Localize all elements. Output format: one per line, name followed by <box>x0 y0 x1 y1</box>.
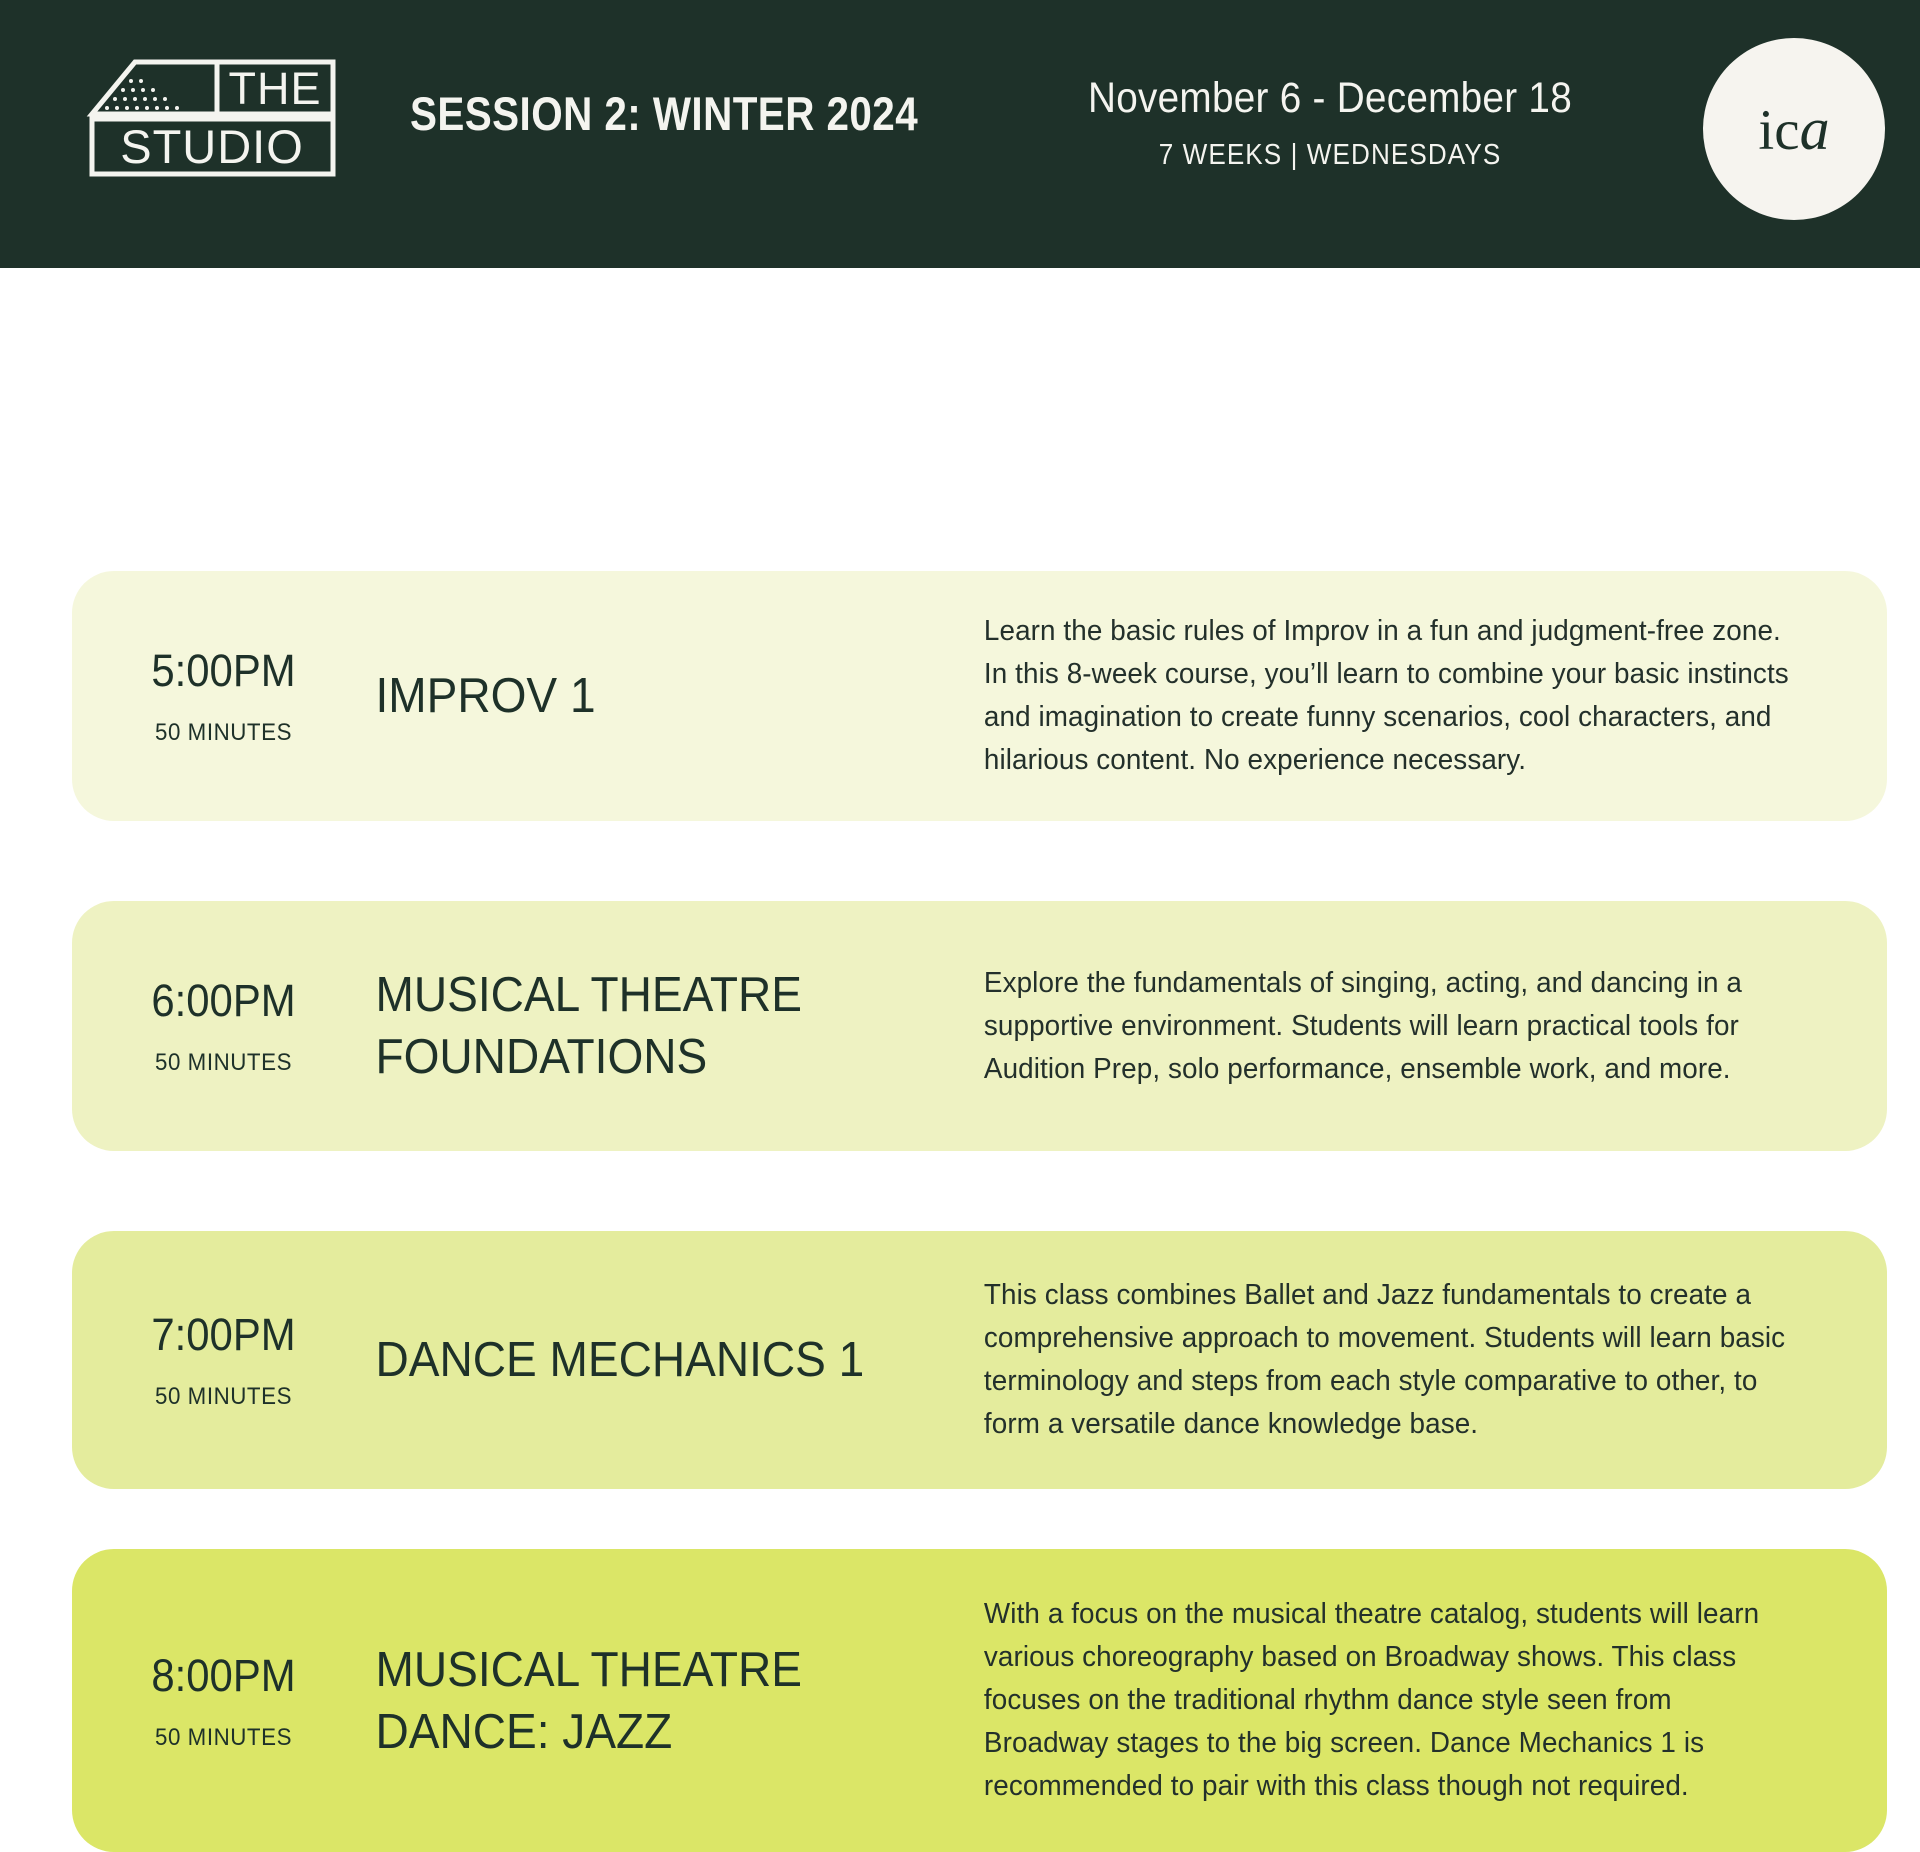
class-start-time: 5:00PM <box>90 645 357 697</box>
class-description: This class combines Ballet and Jazz fund… <box>982 1274 1851 1446</box>
class-duration: 50 MINUTES <box>90 1724 357 1752</box>
class-card[interactable]: 6:00PM 50 MINUTES MUSICAL THEATRE FOUNDA… <box>72 901 1887 1151</box>
class-time-block: 6:00PM 50 MINUTES <box>72 975 367 1077</box>
date-detail: 7 WEEKS | WEDNESDAYS <box>1060 138 1600 172</box>
class-card[interactable]: 8:00PM 50 MINUTES MUSICAL THEATRE DANCE:… <box>72 1549 1887 1852</box>
ica-roman-part: ic <box>1758 99 1799 162</box>
class-description: With a focus on the musical theatre cata… <box>982 1593 1851 1808</box>
ica-logo-badge: ica <box>1703 38 1885 220</box>
date-range: November 6 - December 18 <box>1060 72 1600 124</box>
class-description: Explore the fundamentals of singing, act… <box>982 962 1851 1091</box>
class-description: Learn the basic rules of Improv in a fun… <box>982 610 1851 782</box>
class-duration: 50 MINUTES <box>90 719 357 747</box>
class-time-block: 7:00PM 50 MINUTES <box>72 1309 367 1411</box>
class-title: MUSICAL THEATRE FOUNDATIONS <box>367 964 945 1088</box>
session-dates: November 6 - December 18 7 WEEKS | WEDNE… <box>1030 72 1630 172</box>
class-title: IMPROV 1 <box>367 665 945 727</box>
the-studio-logo: THE STUDIO <box>75 57 340 179</box>
class-card[interactable]: 5:00PM 50 MINUTES IMPROV 1 Learn the bas… <box>72 571 1887 821</box>
class-card[interactable]: 7:00PM 50 MINUTES DANCE MECHANICS 1 This… <box>72 1231 1887 1489</box>
ica-logo-text: ica <box>1758 99 1829 159</box>
class-start-time: 7:00PM <box>90 1309 357 1361</box>
svg-text:THE: THE <box>229 63 322 114</box>
class-time-block: 5:00PM 50 MINUTES <box>72 645 367 747</box>
class-time-block: 8:00PM 50 MINUTES <box>72 1650 367 1752</box>
class-duration: 50 MINUTES <box>90 1049 357 1077</box>
class-duration: 50 MINUTES <box>90 1383 357 1411</box>
class-title: MUSICAL THEATRE DANCE: JAZZ <box>367 1639 945 1763</box>
ica-italic-part: a <box>1800 96 1830 162</box>
class-start-time: 6:00PM <box>90 975 357 1027</box>
svg-text:STUDIO: STUDIO <box>120 120 304 173</box>
class-title: DANCE MECHANICS 1 <box>367 1329 945 1391</box>
session-title: SESSION 2: WINTER 2024 <box>410 85 918 143</box>
page-header: THE STUDIO SESSION 2: WINTER 2024 Novemb… <box>0 0 1920 268</box>
class-start-time: 8:00PM <box>90 1650 357 1702</box>
